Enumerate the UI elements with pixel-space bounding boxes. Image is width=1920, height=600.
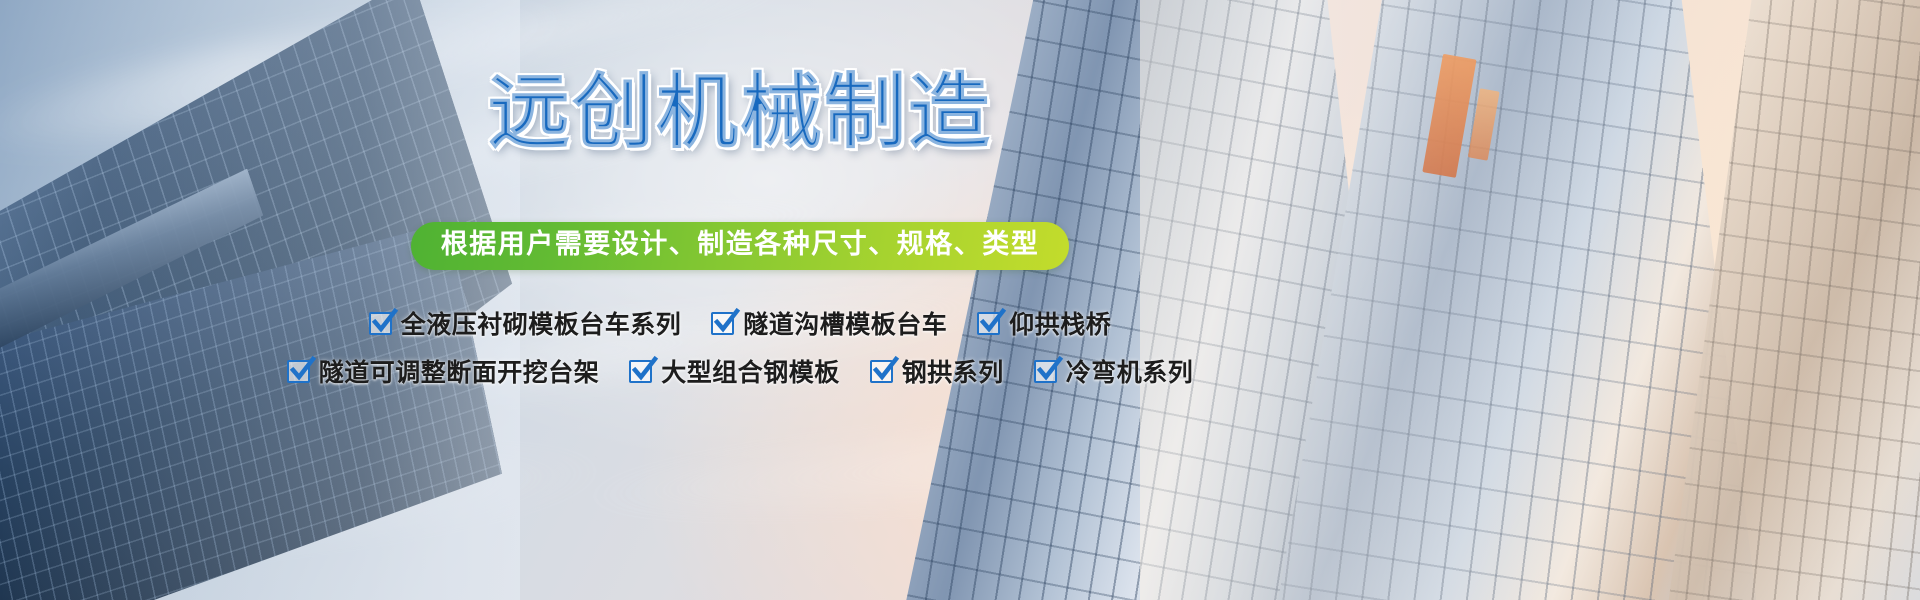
banner-title: 远创机械制造 bbox=[0, 72, 1480, 154]
feature-list: 全液压衬砌模板台车系列 隧道沟槽模板台车 仰拱栈桥 bbox=[0, 305, 1480, 401]
feature-item[interactable]: 大型组合钢模板 bbox=[629, 353, 840, 389]
feature-item[interactable]: 隧道可调整断面开挖台架 bbox=[287, 353, 600, 389]
checkbox-checked-icon bbox=[369, 312, 392, 335]
feature-label: 全液压衬砌模板台车系列 bbox=[401, 305, 682, 341]
feature-item[interactable]: 钢拱系列 bbox=[870, 353, 1004, 389]
banner-content: 远创机械制造 根据用户需要设计、制造各种尺寸、规格、类型 全液压衬砌模板台车系列… bbox=[0, 0, 1920, 600]
feature-label: 冷弯机系列 bbox=[1066, 353, 1194, 389]
feature-label: 隧道可调整断面开挖台架 bbox=[319, 353, 600, 389]
checkbox-checked-icon bbox=[287, 360, 310, 383]
checkbox-checked-icon bbox=[977, 312, 1000, 335]
feature-item[interactable]: 仰拱栈桥 bbox=[977, 305, 1111, 341]
feature-row: 全液压衬砌模板台车系列 隧道沟槽模板台车 仰拱栈桥 bbox=[0, 305, 1480, 341]
feature-label: 仰拱栈桥 bbox=[1009, 305, 1111, 341]
checkbox-checked-icon bbox=[1034, 360, 1057, 383]
feature-label: 大型组合钢模板 bbox=[661, 353, 840, 389]
feature-label: 隧道沟槽模板台车 bbox=[743, 305, 947, 341]
checkbox-checked-icon bbox=[870, 360, 893, 383]
feature-label: 钢拱系列 bbox=[902, 353, 1004, 389]
checkbox-checked-icon bbox=[711, 312, 734, 335]
hero-banner: 远创机械制造 根据用户需要设计、制造各种尺寸、规格、类型 全液压衬砌模板台车系列… bbox=[0, 0, 1920, 600]
feature-item[interactable]: 隧道沟槽模板台车 bbox=[711, 305, 947, 341]
feature-row: 隧道可调整断面开挖台架 大型组合钢模板 钢拱系列 bbox=[0, 353, 1480, 389]
feature-item[interactable]: 全液压衬砌模板台车系列 bbox=[369, 305, 682, 341]
feature-item[interactable]: 冷弯机系列 bbox=[1034, 353, 1194, 389]
checkbox-checked-icon bbox=[629, 360, 652, 383]
banner-subtitle-container: 根据用户需要设计、制造各种尺寸、规格、类型 bbox=[0, 222, 1480, 270]
banner-subtitle-pill: 根据用户需要设计、制造各种尺寸、规格、类型 bbox=[411, 222, 1070, 270]
